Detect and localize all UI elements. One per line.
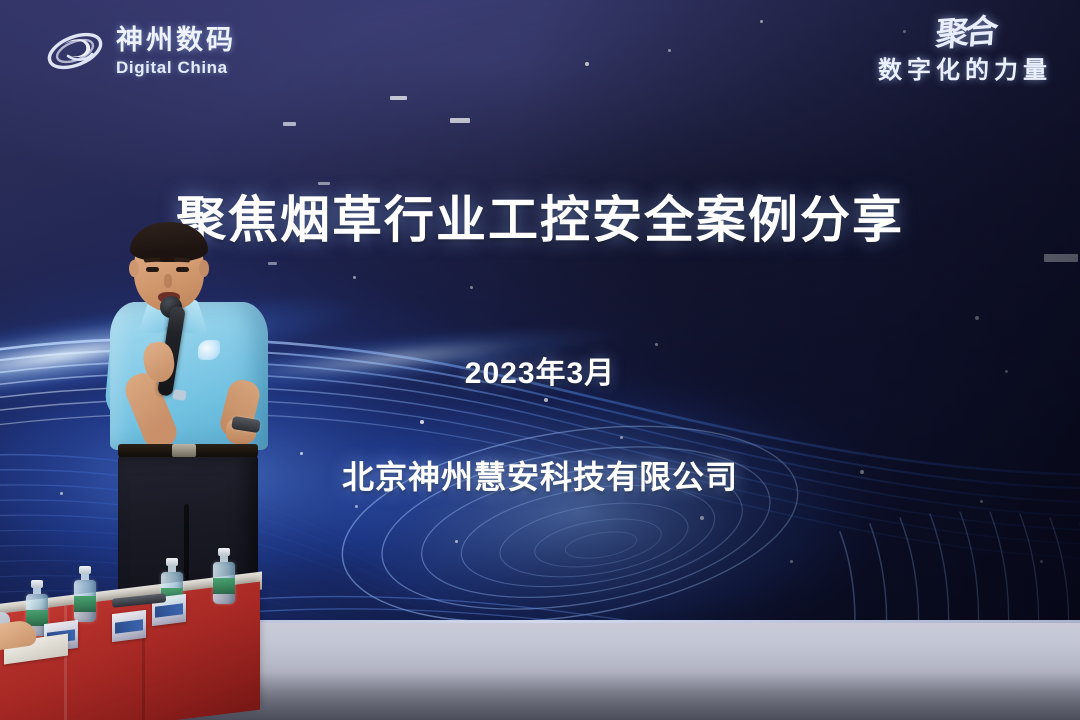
- presenter-belt-buckle: [172, 444, 196, 457]
- event-slogan: 数字化的力量: [878, 50, 1052, 85]
- name-card: [112, 610, 146, 642]
- microphone-tip: [172, 389, 186, 401]
- presenter-nose: [164, 274, 172, 288]
- water-bottle: [74, 566, 96, 622]
- digital-china-logo: 神州数码 Digital China: [44, 22, 236, 80]
- presenter-ear-left: [129, 260, 139, 277]
- digital-china-swirl-logo-icon: [44, 22, 106, 80]
- presenter-hair: [130, 222, 208, 262]
- presenter-ear-right: [199, 260, 209, 277]
- event-logo: 聚合 数字化的力量: [878, 18, 1052, 85]
- water-bottle: [213, 548, 235, 604]
- digital-china-cn-name: 神州数码: [116, 27, 236, 54]
- attendee-hand: [0, 619, 38, 651]
- digital-china-en-name: Digital China: [116, 59, 236, 76]
- event-brush-text: 聚合: [935, 16, 996, 50]
- conference-stage-scene: 神州数码 Digital China 聚合 数字化的力量 聚焦烟草行业工控安全案…: [0, 0, 1080, 720]
- foreground-attendee: [0, 612, 56, 672]
- presenter-eye-right: [176, 267, 189, 272]
- presenter-chest-logo: [198, 340, 220, 360]
- presenter-eye-left: [146, 267, 159, 272]
